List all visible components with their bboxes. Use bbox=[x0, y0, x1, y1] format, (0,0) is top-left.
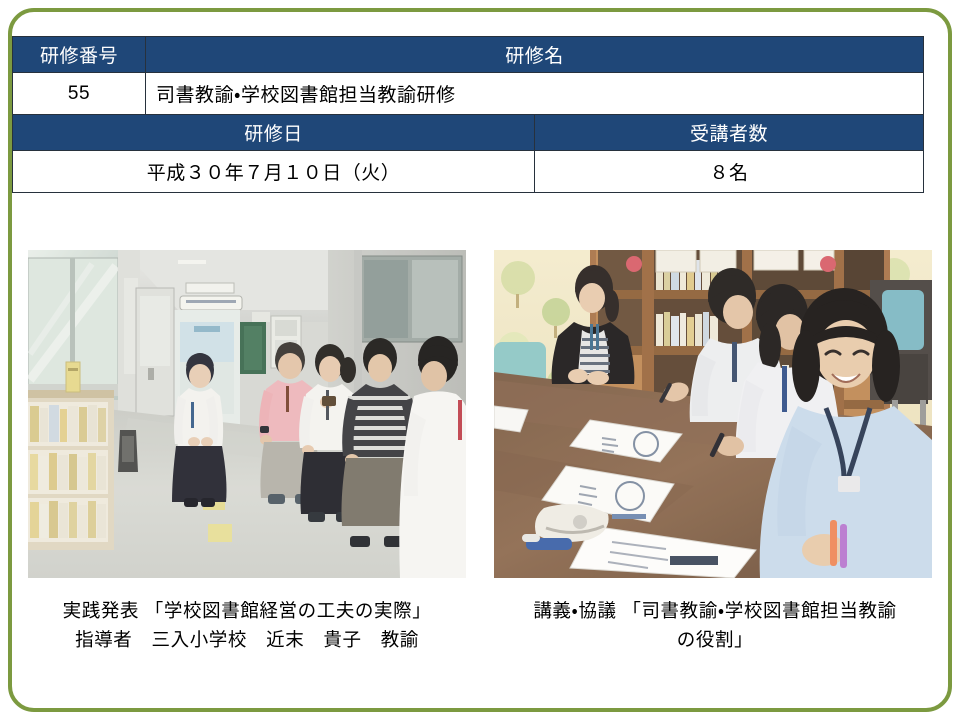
caption-row: 実践発表 「学校図書館経営の工夫の実際」 指導者 三入小学校 近末 貴子 教諭 … bbox=[0, 596, 960, 676]
header-training-name: 研修名 bbox=[146, 37, 924, 73]
training-info-table: 研修番号 研修名 55 司書教諭・学校図書館担当教諭研修 研修日 受講者数 平成… bbox=[12, 36, 924, 193]
photo-corridor-graphic bbox=[28, 250, 466, 578]
header-training-date: 研修日 bbox=[13, 115, 535, 151]
value-training-name: 司書教諭・学校図書館担当教諭研修 bbox=[146, 73, 924, 115]
value-training-number: 55 bbox=[13, 73, 146, 115]
table-row-header-bottom: 研修日 受講者数 bbox=[13, 115, 924, 151]
table-row-header-top: 研修番号 研修名 bbox=[13, 37, 924, 73]
table-row-values-bottom: 平成３０年７月１０日（火） ８名 bbox=[13, 151, 924, 193]
header-training-number: 研修番号 bbox=[13, 37, 146, 73]
photo-library-discussion bbox=[494, 250, 932, 578]
photo-library-graphic bbox=[494, 250, 932, 578]
photo-row bbox=[0, 250, 960, 580]
photo-corridor-presentation bbox=[28, 250, 466, 578]
header-attendee-count: 受講者数 bbox=[535, 115, 924, 151]
value-training-date: 平成３０年７月１０日（火） bbox=[13, 151, 535, 193]
value-attendee-count: ８名 bbox=[535, 151, 924, 193]
caption-left-photo: 実践発表 「学校図書館経営の工夫の実際」 指導者 三入小学校 近末 貴子 教諭 bbox=[22, 596, 472, 654]
caption-right-photo: 講義・協議 「司書教諭・学校図書館担当教諭 の役割」 bbox=[494, 596, 936, 654]
table-row-values-top: 55 司書教諭・学校図書館担当教諭研修 bbox=[13, 73, 924, 115]
